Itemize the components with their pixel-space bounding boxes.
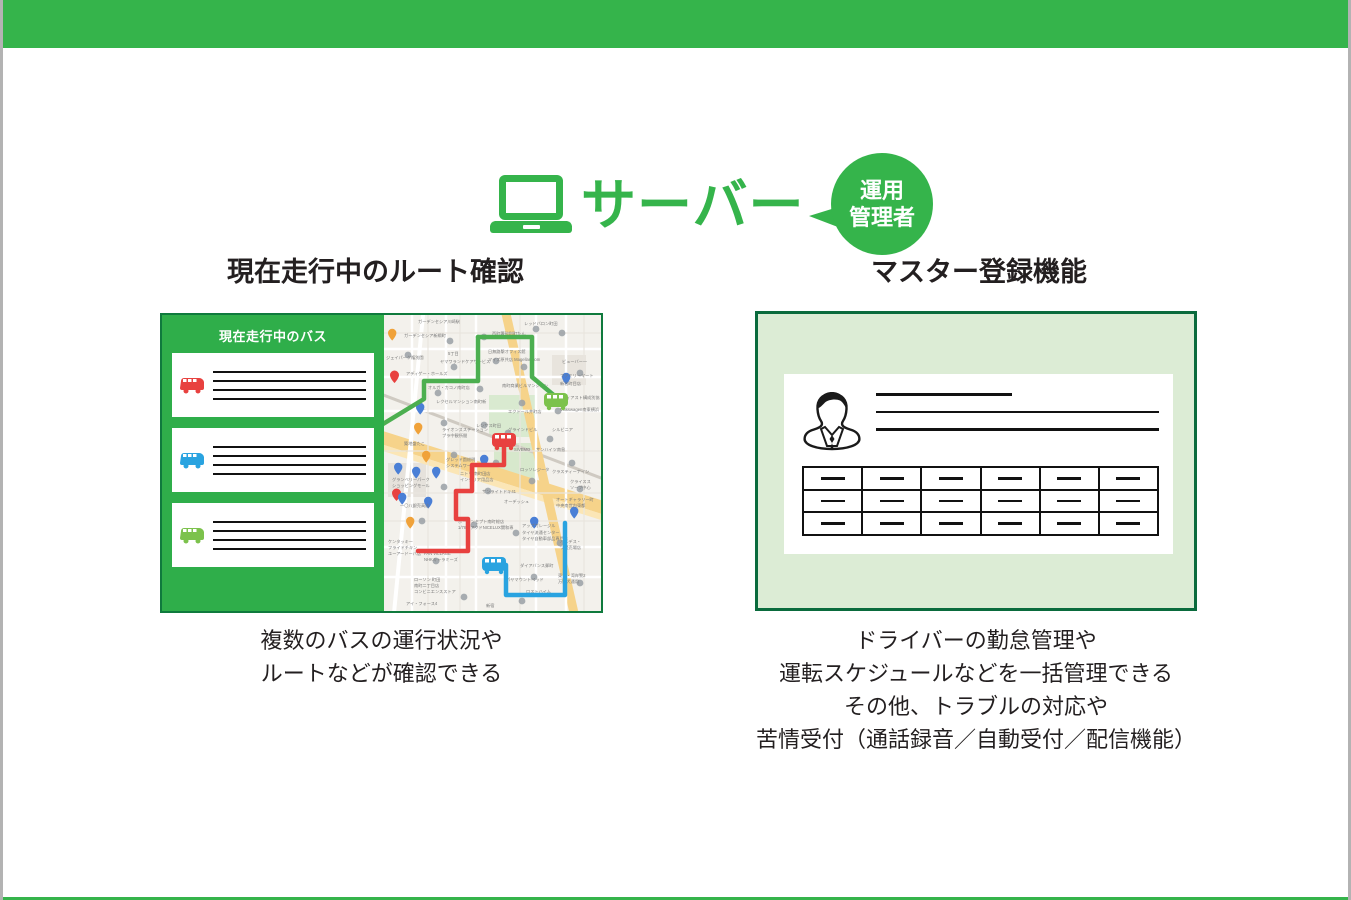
table-cell: [804, 468, 863, 489]
list-item[interactable]: [172, 428, 374, 492]
bus-icon-blue: [179, 451, 205, 469]
registration-form-sheet[interactable]: [784, 374, 1173, 554]
svg-text:グレッド園総明: グレッド園総明: [446, 456, 475, 463]
master-registration-card: [755, 311, 1197, 611]
svg-text:タイヤ流通センター: タイヤ流通センター: [522, 529, 560, 536]
right-panel-caption: ドライバーの勤怠管理や 運転スケジュールなどを一括管理できる その他、トラブルの…: [755, 624, 1197, 756]
svg-text:東京・湾岸警2: 東京・湾岸警2: [558, 572, 586, 579]
svg-text:インテリア用品店: インテリア用品店: [460, 476, 494, 483]
table-cell: [922, 513, 981, 534]
svg-text:アディゲー・ホールズ: アディゲー・ホールズ: [406, 370, 448, 377]
table-cell: [863, 468, 922, 489]
svg-text:新名町目店: 新名町目店: [560, 380, 581, 387]
table-cell: [1100, 513, 1157, 534]
caption-line: その他、トラブルの対応や: [755, 690, 1197, 723]
caption-line: 苦情受付（通話録音／自動受付／配信機能）: [755, 723, 1197, 756]
route-map[interactable]: ガーデンセシア川崎駅 レッドバロン町田 ガーデンセシア新綱町 西町署砂利町たん …: [384, 315, 601, 611]
svg-text:ライオンズステーション: ライオンズステーション: [442, 426, 488, 433]
svg-text:ダイアバンス郵町: ダイアバンス郵町: [520, 562, 554, 569]
bus-icon-red: [179, 376, 205, 394]
bus-detail-lines: [213, 371, 366, 400]
table-cell: [1041, 491, 1100, 512]
table-cell: [982, 468, 1041, 489]
list-item[interactable]: [172, 353, 374, 417]
caption-line: ドライバーの勤怠管理や: [755, 624, 1197, 657]
route-monitor-card: 現在走行中のバス: [160, 313, 603, 613]
slide-page: サーバー 運用 管理者 現在走行中のルート確認 現在走行中のバス: [0, 0, 1351, 900]
right-panel-title: マスター登録機能: [871, 250, 1087, 289]
table-cell: [1100, 491, 1157, 512]
svg-text:ソープ中心: ソープ中心: [570, 484, 591, 491]
svg-text:グランベリーパーク: グランベリーパーク: [392, 476, 430, 483]
table-cell: [982, 513, 1041, 534]
caption-line: ルートなどが確認できる: [160, 657, 603, 690]
table-cell: [804, 513, 863, 534]
badge-line-1: 運用: [860, 177, 904, 204]
svg-text:ニトリ 南町田店: ニトリ 南町田店: [460, 470, 490, 477]
svg-text:オーデッシュ: オーデッシュ: [504, 498, 529, 505]
svg-text:ジェイパーク権別園: ジェイパーク権別園: [386, 354, 424, 361]
svg-text:新宿: 新宿: [486, 602, 494, 609]
bus-detail-lines: [213, 521, 366, 550]
caption-line: 運転スケジュールなどを一括管理できる: [755, 657, 1197, 690]
svg-text:南町二丁目店: 南町二丁目店: [414, 582, 439, 589]
svg-text:コンビニエンスストア: コンビニエンスストア: [414, 588, 456, 595]
svg-text:ガーデンセシア川崎駅: ガーデンセシア川崎駅: [418, 318, 461, 325]
caption-line: 複数のバスの運行状況や: [160, 624, 603, 657]
svg-text:築地盛たこ: 築地盛たこ: [404, 440, 425, 447]
table-cell: [922, 468, 981, 489]
svg-text:グラインドビル: グラインドビル: [508, 426, 537, 433]
role-badge: 運用 管理者: [809, 153, 933, 257]
table-cell: [1041, 513, 1100, 534]
table-cell: [863, 513, 922, 534]
table-row: [804, 491, 1157, 514]
header: サーバー 運用 管理者: [3, 75, 1348, 195]
left-panel-caption: 複数のバスの運行状況や ルートなどが確認できる: [160, 624, 603, 690]
table-row: [804, 513, 1157, 534]
laptop-icon: [490, 175, 572, 237]
svg-text:レクセルマンション南町新: レクセルマンション南町新: [436, 398, 486, 405]
svg-text:シルビニア: シルビニア: [552, 426, 573, 433]
running-bus-list-header: 現在走行中のバス: [172, 323, 374, 353]
svg-text:ビューバー一: ビューバー一: [562, 358, 587, 364]
svg-text:NHKキャラミーズ: NHKキャラミーズ: [424, 556, 458, 563]
badge-line-2: 管理者: [849, 204, 915, 231]
svg-text:パヤマウントペッド: パヤマウントペッド: [506, 576, 544, 583]
svg-text:一〇八銀売高店: 一〇八銀売高店: [400, 502, 429, 509]
svg-text:万国犬通用: 万国犬通用: [558, 578, 579, 585]
top-green-bar: [3, 0, 1348, 48]
svg-text:ケンタッキー: ケンタッキー: [388, 538, 413, 545]
svg-text:日無路繋オフィス館: 日無路繋オフィス館: [488, 348, 526, 355]
svg-text:SIVEMO: SIVEMO: [514, 447, 531, 452]
page-title: サーバー: [581, 171, 804, 239]
driver-detail-lines: [876, 388, 1159, 458]
table-cell: [1041, 468, 1100, 489]
person-avatar-icon: [802, 388, 862, 454]
bus-detail-lines: [213, 446, 366, 475]
svg-text:ヤマワランドケアサービス: ヤマワランドケアサービス: [440, 358, 490, 365]
bus-icon-green: [179, 526, 205, 544]
left-panel-title: 現在走行中のルート確認: [227, 250, 524, 289]
table-cell: [804, 491, 863, 512]
table-cell: [922, 491, 981, 512]
svg-text:ガーデンセシア新綱町: ガーデンセシア新綱町: [404, 332, 447, 339]
svg-text:ロッソレジータ: ロッソレジータ: [520, 466, 549, 473]
table-cell: [863, 491, 922, 512]
svg-text:中央南営内東都: 中央南営内東都: [556, 502, 586, 509]
table-row: [804, 468, 1157, 491]
svg-text:オルガ・カコノ南町店: オルガ・カコノ南町店: [428, 384, 470, 391]
table-cell: [1100, 468, 1157, 489]
list-item[interactable]: [172, 503, 374, 567]
svg-text:サンハイツ南島: サンハイツ南島: [536, 446, 565, 453]
svg-text:プラ中観所間: プラ中観所間: [442, 432, 467, 439]
driver-profile-row: [802, 388, 1159, 458]
svg-text:ショッピングモール: ショッピングモール: [392, 482, 430, 489]
table-cell: [982, 491, 1041, 512]
schedule-table[interactable]: [802, 466, 1159, 536]
svg-text:アップガレージル: アップガレージル: [522, 522, 555, 529]
badge-text-group: 運用 管理者: [831, 153, 933, 255]
svg-text:エクトール井町店: エクトール井町店: [508, 408, 542, 415]
running-bus-list: 現在走行中のバス: [162, 315, 384, 611]
svg-text:Volkswagen南東横浜: Volkswagen南東横浜: [560, 406, 599, 413]
